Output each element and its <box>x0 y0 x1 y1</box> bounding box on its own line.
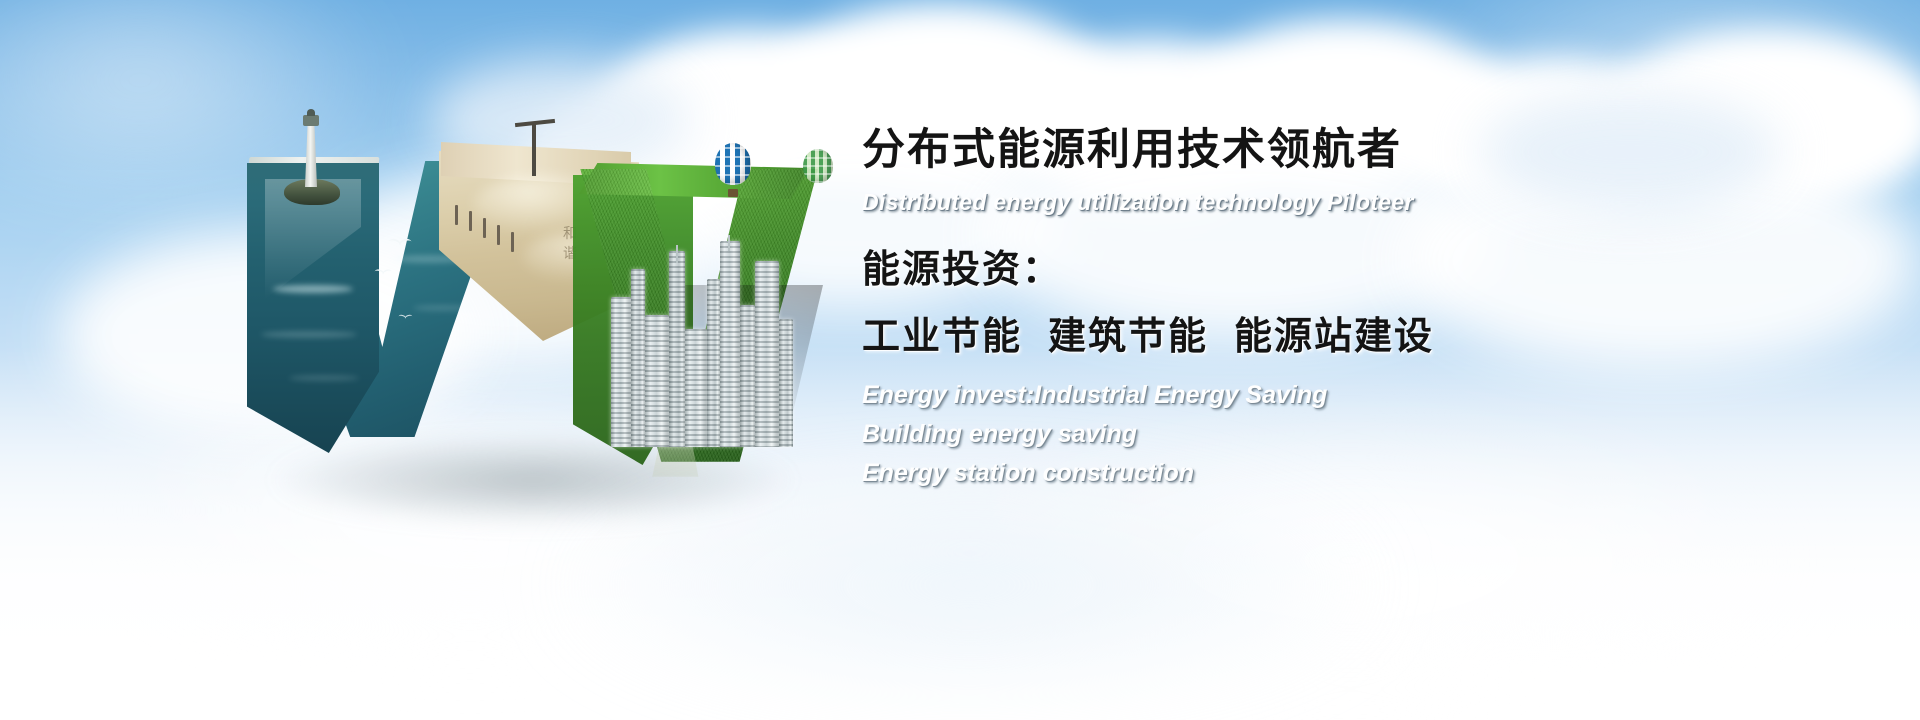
seagull-icon <box>374 267 394 276</box>
service-item-industrial: 工业节能 <box>862 316 1022 358</box>
service-en-line-1: Energy invest:Industrial Energy Saving <box>862 376 1862 415</box>
banner-root: 和谐 <box>0 0 1920 720</box>
services-chinese: 工业节能建筑节能能源站建设 <box>862 305 1862 360</box>
hot-air-balloon-icon <box>713 143 753 201</box>
headline-english: Distributed energy utilization technolog… <box>862 189 1862 216</box>
leaf-globe-icon <box>803 149 833 183</box>
seagull-icon <box>388 235 414 247</box>
service-item-station: 能源站建设 <box>1234 316 1434 358</box>
seagull-icon <box>398 312 414 319</box>
subhead-chinese: 能源投资： <box>862 238 1862 293</box>
lighthouse-icon <box>298 113 324 205</box>
city-skyline <box>611 197 811 447</box>
headline-chinese: 分布式能源利用技术领航者 <box>862 128 1862 173</box>
service-item-building: 建筑节能 <box>1048 316 1208 358</box>
service-en-line-2: Building energy saving <box>862 415 1862 454</box>
service-en-line-3: Energy station construction <box>862 454 1862 493</box>
services-english: Energy invest:Industrial Energy Saving B… <box>862 376 1862 492</box>
w-logo-artwork: 和谐 <box>243 135 823 475</box>
banner-text-block: 分布式能源利用技术领航者 Distributed energy utilizat… <box>862 128 1862 492</box>
